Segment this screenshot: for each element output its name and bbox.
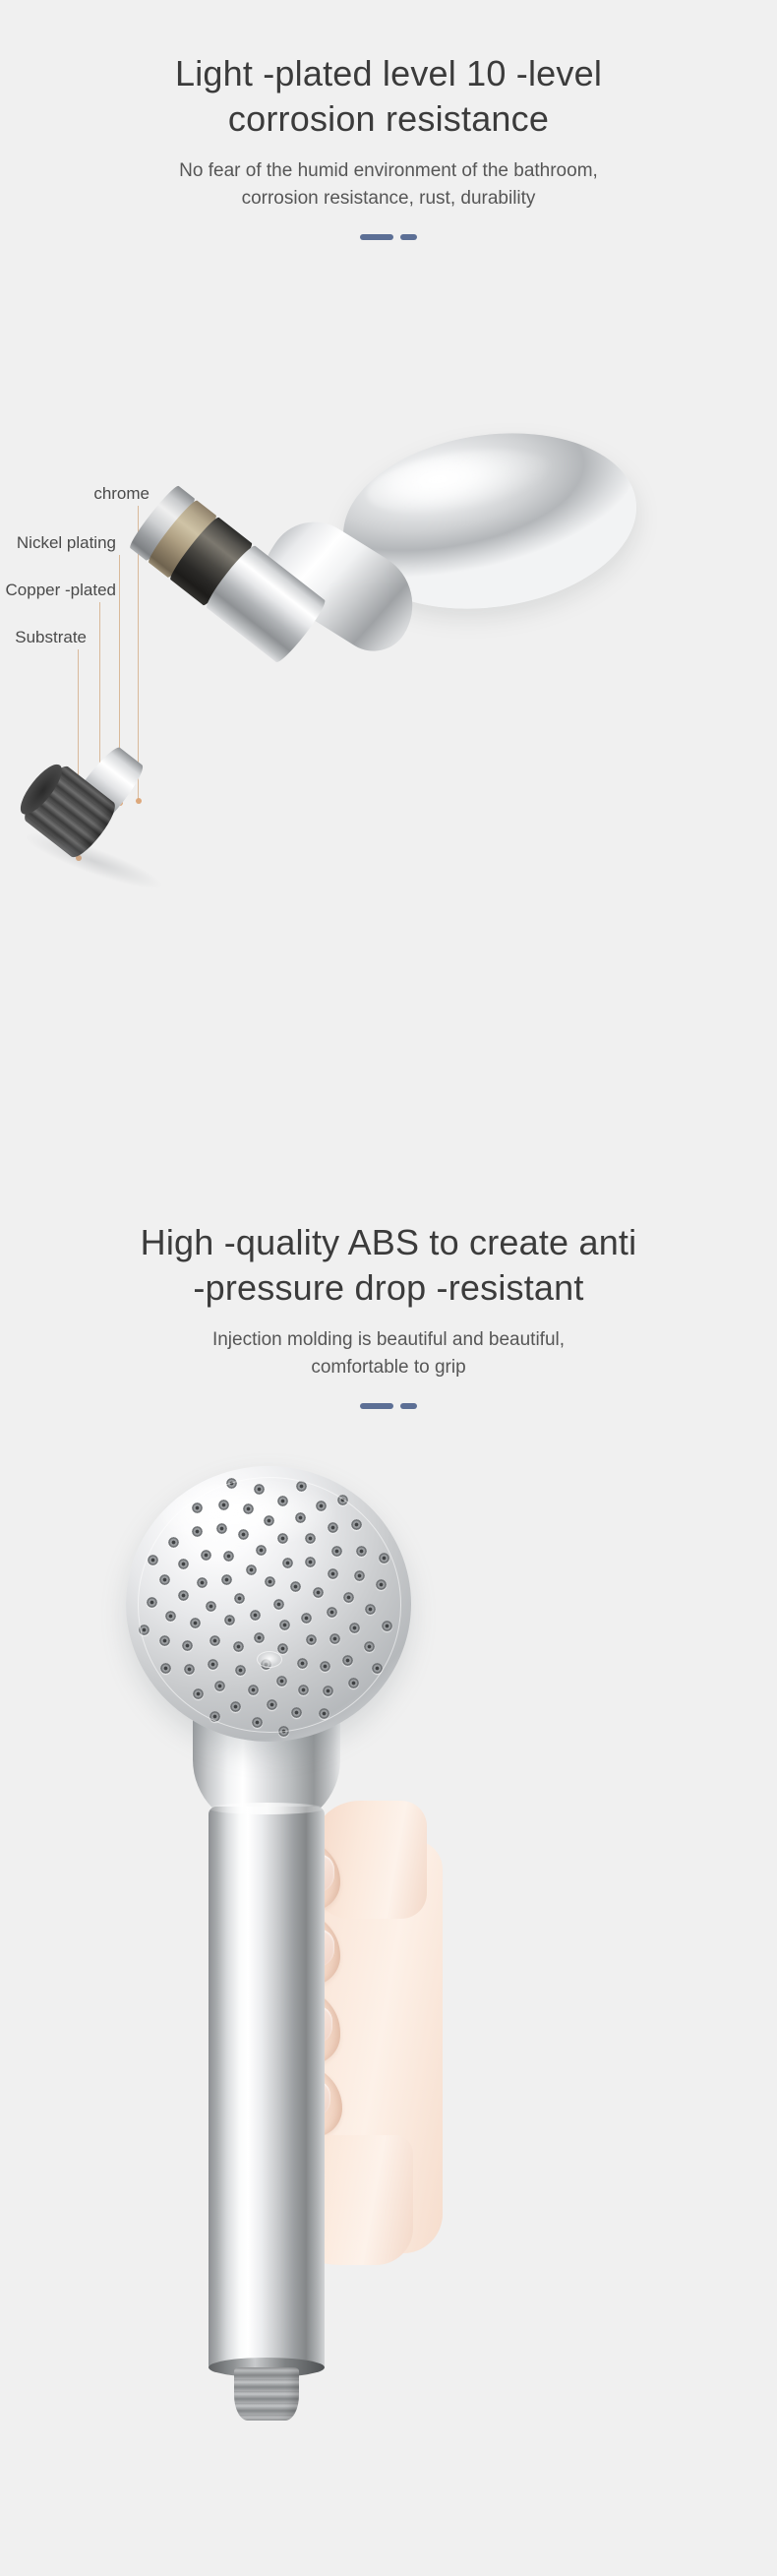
nozzle-hole: [372, 1663, 383, 1674]
nozzle-hole: [323, 1686, 333, 1696]
section-2-subtitle-line-1: Injection molding is beautiful and beaut…: [49, 1326, 728, 1354]
nozzle-hole: [273, 1599, 284, 1610]
nozzle-hole: [337, 1495, 348, 1505]
nozzle-hole: [168, 1537, 179, 1548]
nozzle-hole: [295, 1512, 306, 1523]
nozzle-hole: [364, 1641, 375, 1652]
nozzle-hole: [147, 1597, 157, 1608]
nozzle-hole: [382, 1621, 392, 1631]
nozzle-hole: [320, 1661, 330, 1672]
nozzle-hole: [165, 1611, 176, 1622]
nozzle-hole: [139, 1625, 149, 1635]
nozzle-hole: [252, 1717, 263, 1728]
nozzle-hole: [261, 1659, 271, 1670]
nozzle-hole: [264, 1515, 274, 1526]
nozzle-hole: [226, 1478, 237, 1489]
nozzle-hole: [306, 1634, 317, 1645]
section-1-title: Light -plated level 10 -level corrosion …: [0, 51, 777, 142]
section-1-header: Light -plated level 10 -level corrosion …: [0, 51, 777, 240]
divider-dash-long: [360, 234, 393, 240]
nozzle-hole: [354, 1570, 365, 1581]
nozzle-hole: [160, 1663, 171, 1674]
product-detail-page: Light -plated level 10 -level corrosion …: [0, 0, 777, 2576]
nozzle-hole: [159, 1635, 170, 1646]
nozzle-hole: [256, 1545, 267, 1556]
nozzle-hole: [279, 1620, 290, 1630]
section-1-subtitle: No fear of the humid environment of the …: [0, 157, 777, 213]
nozzle-hole: [342, 1655, 353, 1666]
nozzle-hole: [254, 1484, 265, 1495]
callout-label-copper-plated: Copper -plated: [0, 581, 116, 600]
nozzle-hole: [201, 1550, 211, 1561]
nozzle-hole: [267, 1699, 277, 1710]
nozzle-hole: [218, 1500, 229, 1510]
nozzle-hole: [192, 1526, 203, 1537]
callout-label-nickel-plating: Nickel plating: [0, 533, 116, 553]
section-2-image: [0, 1456, 777, 2568]
nozzle-hole: [298, 1685, 309, 1695]
nozzle-hole: [190, 1618, 201, 1628]
nozzle-hole: [235, 1665, 246, 1676]
nozzle-hole: [277, 1643, 288, 1654]
nozzle-hole: [349, 1623, 360, 1633]
nozzle-hole: [277, 1496, 288, 1506]
nozzle-hole: [351, 1519, 362, 1530]
section-2-subtitle: Injection molding is beautiful and beaut…: [0, 1326, 777, 1381]
divider-dash-short: [400, 234, 417, 240]
nozzle-hole: [376, 1579, 387, 1590]
nozzle-hole: [265, 1576, 275, 1587]
nozzle-hole: [331, 1546, 342, 1557]
shower-handle-grip: [209, 1807, 325, 2372]
nozzle-hole: [327, 1607, 337, 1618]
nozzle-hole: [223, 1551, 234, 1562]
nozzle-hole: [343, 1592, 354, 1603]
nozzle-hole: [291, 1707, 302, 1718]
nozzle-hole: [148, 1555, 158, 1565]
nozzle-hole: [238, 1529, 249, 1540]
nozzle-hole: [208, 1659, 218, 1670]
section-1-image: chrome Nickel plating Copper -plated Sub…: [0, 423, 777, 718]
divider-dash-long: [360, 1403, 393, 1409]
section-2-title: High -quality ABS to create anti -pressu…: [0, 1220, 777, 1311]
section-1-divider: [0, 234, 777, 240]
section-2-subtitle-line-2: comfortable to grip: [49, 1354, 728, 1381]
brand-marking: [257, 1651, 282, 1668]
nozzle-hole: [216, 1523, 227, 1534]
nozzle-hole: [178, 1559, 189, 1569]
nozzle-hole: [234, 1593, 245, 1604]
nozzle-hole: [250, 1610, 261, 1621]
nozzle-hole: [328, 1568, 338, 1579]
nozzle-hole: [192, 1503, 203, 1513]
nozzle-hole: [348, 1678, 359, 1688]
threaded-connector-2: [234, 2367, 299, 2421]
section-1-title-line-2: corrosion resistance: [39, 96, 738, 142]
nozzle-hole: [305, 1557, 316, 1567]
nozzle-hole: [209, 1635, 220, 1646]
section-1-title-line-1: Light -plated level 10 -level: [39, 51, 738, 96]
nozzle-hole: [379, 1553, 389, 1564]
nozzle-hole: [305, 1533, 316, 1544]
nozzle-hole: [365, 1604, 376, 1615]
nozzle-hole: [316, 1501, 327, 1511]
nozzle-hole: [248, 1685, 259, 1695]
nozzle-hole: [301, 1613, 312, 1624]
callout-label-chrome: chrome: [0, 484, 149, 504]
section-2-title-line-2: -pressure drop -resistant: [39, 1265, 738, 1311]
nozzle-hole: [276, 1676, 287, 1687]
nozzle-hole: [246, 1564, 257, 1575]
callout-label-substrate: Substrate: [0, 628, 87, 647]
nozzle-hole: [328, 1522, 338, 1533]
section-1-subtitle-line-1: No fear of the humid environment of the …: [49, 157, 728, 185]
nozzle-hole: [206, 1601, 216, 1612]
nozzle-hole: [233, 1641, 244, 1652]
nozzle-hole: [214, 1681, 225, 1691]
nozzle-hole: [197, 1577, 208, 1588]
nozzle-hole: [278, 1726, 289, 1737]
nozzle-hole: [356, 1546, 367, 1557]
handle-seam: [209, 1803, 325, 1814]
section-2-title-line-1: High -quality ABS to create anti: [39, 1220, 738, 1265]
nozzle-hole: [254, 1632, 265, 1643]
nozzle-hole: [193, 1688, 204, 1699]
nozzle-hole: [243, 1503, 254, 1514]
nozzle-hole: [297, 1658, 308, 1669]
nozzle-hole: [178, 1590, 189, 1601]
leader-line-copper-plated: [99, 602, 100, 779]
section-2-divider: [0, 1403, 777, 1409]
nozzle-hole: [224, 1615, 235, 1625]
nozzle-hole: [182, 1640, 193, 1651]
nozzle-hole: [319, 1708, 329, 1719]
nozzle-hole: [230, 1701, 241, 1712]
nozzle-hole: [209, 1711, 220, 1722]
nozzle-hole: [184, 1664, 195, 1675]
nozzle-hole: [221, 1574, 232, 1585]
nozzle-hole: [159, 1574, 170, 1585]
nozzle-grid: [126, 1466, 411, 1742]
shower-head-face: [126, 1466, 411, 1742]
nozzle-hole: [290, 1581, 301, 1592]
section-2-header: High -quality ABS to create anti -pressu…: [0, 1220, 777, 1409]
nozzle-hole: [329, 1633, 340, 1644]
nozzle-hole: [277, 1533, 288, 1544]
nozzle-hole: [296, 1481, 307, 1492]
nozzle-hole: [282, 1558, 293, 1568]
section-1-subtitle-line-2: corrosion resistance, rust, durability: [49, 185, 728, 213]
nozzle-hole: [313, 1587, 324, 1598]
divider-dash-short: [400, 1403, 417, 1409]
